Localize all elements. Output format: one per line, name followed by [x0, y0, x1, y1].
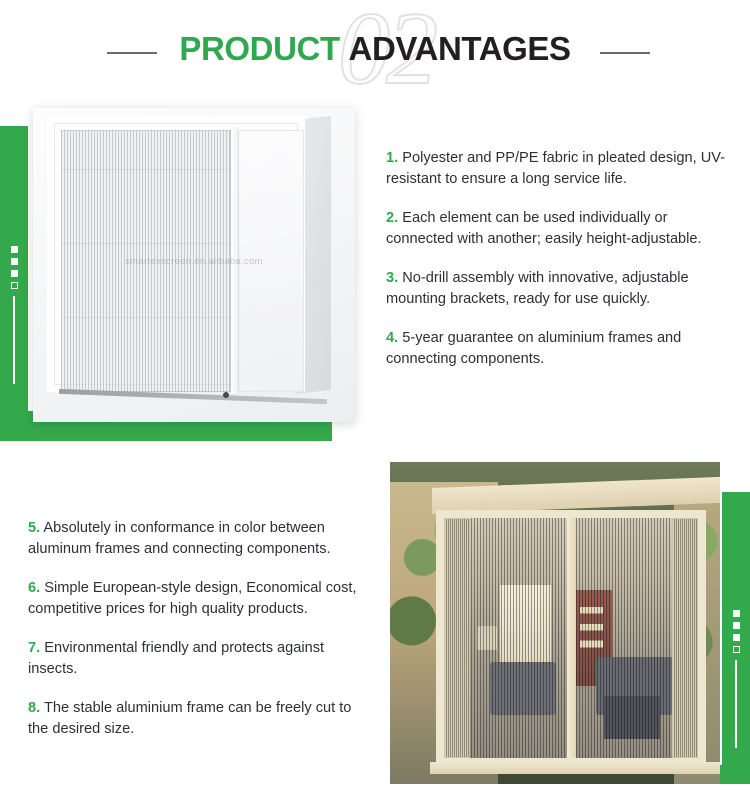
advantage-text: Absolutely in conformance in color betwe…: [28, 520, 331, 558]
advantage-item: 2. Each element can be used individually…: [386, 208, 736, 251]
page-title-green: PRODUCT: [179, 30, 339, 67]
advantage-text: 5-year guarantee on aluminium frames and…: [386, 330, 681, 368]
advantage-text: Environmental friendly and protects agai…: [28, 640, 324, 678]
advantage-text: No-drill assembly with innovative, adjus…: [386, 270, 689, 308]
advantage-text: The stable aluminium frame can be freely…: [28, 700, 351, 738]
decor-square: [11, 270, 18, 277]
advantage-number: 8.: [28, 700, 40, 716]
advantage-item: 7. Environmental friendly and protects a…: [28, 638, 368, 681]
decor-square-outline: [11, 282, 18, 289]
advantage-number: 5.: [28, 520, 40, 536]
advantage-text: Each element can be used individually or…: [386, 210, 702, 248]
decor-square: [733, 610, 740, 617]
decor-vertical-line: [13, 296, 15, 384]
advantage-text: Polyester and PP/PE fabric in pleated de…: [386, 150, 725, 188]
decor-square-outline: [733, 646, 740, 653]
advantage-number: 2.: [386, 210, 398, 226]
advantages-list-right: 1. Polyester and PP/PE fabric in pleated…: [386, 133, 736, 371]
page-title: PRODUCT ADVANTAGES: [0, 30, 750, 68]
decor-square: [733, 622, 740, 629]
advantage-text: Simple European-style design, Economical…: [28, 580, 357, 618]
advantages-list-left: 5. Absolutely in conformance in color be…: [28, 503, 368, 741]
decor-marks-left: [0, 246, 28, 384]
decor-square: [11, 246, 18, 253]
page-title-dark: ADVANTAGES: [349, 30, 571, 67]
image-watermark: smartexscreen.en.alibaba.com: [33, 256, 355, 267]
page-header: 02 PRODUCT ADVANTAGES: [0, 0, 750, 100]
advantage-item: 4. 5-year guarantee on aluminium frames …: [386, 328, 736, 371]
advantage-number: 7.: [28, 640, 40, 656]
installation-photo: [390, 462, 720, 784]
product-photo: smartexscreen.en.alibaba.com: [33, 108, 355, 422]
screen-unit-handle: [223, 392, 229, 398]
advantage-number: 1.: [386, 150, 398, 166]
pleat-stack-left: [444, 518, 470, 758]
advantage-number: 3.: [386, 270, 398, 286]
door-center-mullion: [567, 518, 576, 758]
advantage-item: 6. Simple European-style design, Economi…: [28, 578, 368, 621]
screen-unit-frame: [47, 116, 305, 392]
decor-marks-right: [722, 610, 750, 748]
door-threshold: [430, 762, 720, 774]
advantage-number: 4.: [386, 330, 398, 346]
pleat-stack-right: [672, 518, 698, 758]
advantage-number: 6.: [28, 580, 40, 596]
decor-square: [733, 634, 740, 641]
advantage-item: 5. Absolutely in conformance in color be…: [28, 518, 368, 561]
decor-square: [11, 258, 18, 265]
advantage-item: 3. No-drill assembly with innovative, ad…: [386, 268, 736, 311]
decor-vertical-line: [735, 660, 737, 748]
advantage-item: 8. The stable aluminium frame can be fre…: [28, 698, 368, 741]
screen-door: [436, 510, 706, 766]
advantage-item: 1. Polyester and PP/PE fabric in pleated…: [386, 148, 736, 191]
product-advantages-page: 02 PRODUCT ADVANTAGES: [0, 0, 750, 799]
